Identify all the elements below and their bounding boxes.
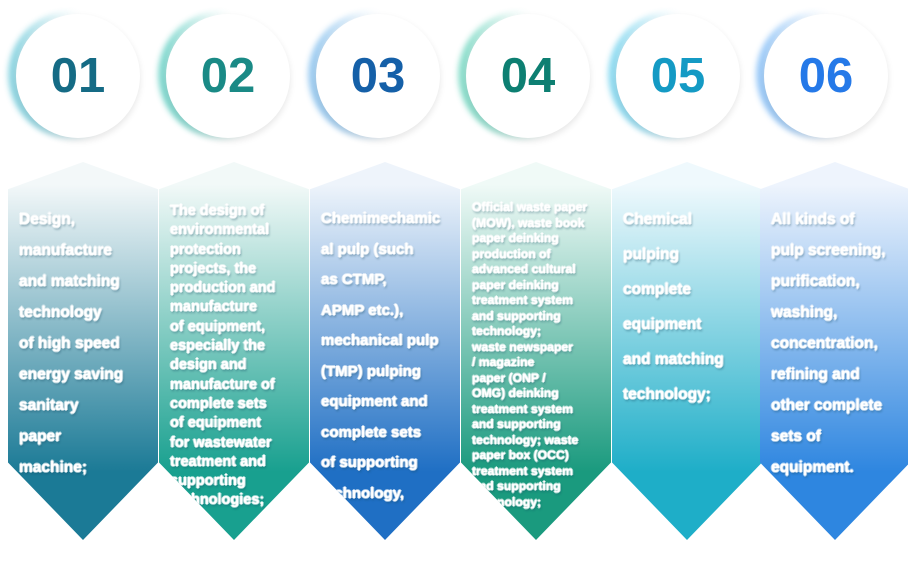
step-banner-text-05: Chemical pulping complete equipment and …	[623, 202, 754, 412]
step-banner-04[interactable]: Official waste paper (MOW), waste book p…	[461, 162, 611, 540]
step-circle-02[interactable]: 02	[156, 8, 292, 144]
step-banner-text-04: Official waste paper (MOW), waste book p…	[472, 200, 603, 510]
step-number-label-04: 04	[466, 14, 590, 138]
step-number-label-03: 03	[316, 14, 440, 138]
infographic-board: 01 02 03 04 05 06 Design, ma	[0, 0, 908, 567]
step-banner-01[interactable]: Design, manufacture and matching technol…	[8, 162, 158, 540]
step-banner-06[interactable]: All kinds of pulp screening, purificatio…	[760, 162, 908, 540]
step-banner-text-06: All kinds of pulp screening, purificatio…	[771, 204, 902, 483]
step-banner-text-03: Chemimechamic al pulp (such as CTMP, APM…	[321, 204, 452, 509]
step-number-circles: 01 02 03 04 05 06	[0, 0, 908, 152]
step-banner-text-01: Design, manufacture and matching technol…	[19, 204, 150, 483]
step-circle-01[interactable]: 01	[6, 8, 142, 144]
step-banner-05[interactable]: Chemical pulping complete equipment and …	[612, 162, 762, 540]
step-banner-02[interactable]: The design of environmental protection p…	[159, 162, 309, 540]
step-number-label-02: 02	[166, 14, 290, 138]
step-number-label-05: 05	[616, 14, 740, 138]
step-circle-03[interactable]: 03	[306, 8, 442, 144]
step-banner-text-02: The design of environmental protection p…	[170, 202, 301, 511]
step-number-label-06: 06	[764, 14, 888, 138]
step-banner-03[interactable]: Chemimechamic al pulp (such as CTMP, APM…	[310, 162, 460, 540]
step-number-label-01: 01	[16, 14, 140, 138]
step-circle-06[interactable]: 06	[754, 8, 890, 144]
step-circle-05[interactable]: 05	[606, 8, 742, 144]
step-circle-04[interactable]: 04	[456, 8, 592, 144]
